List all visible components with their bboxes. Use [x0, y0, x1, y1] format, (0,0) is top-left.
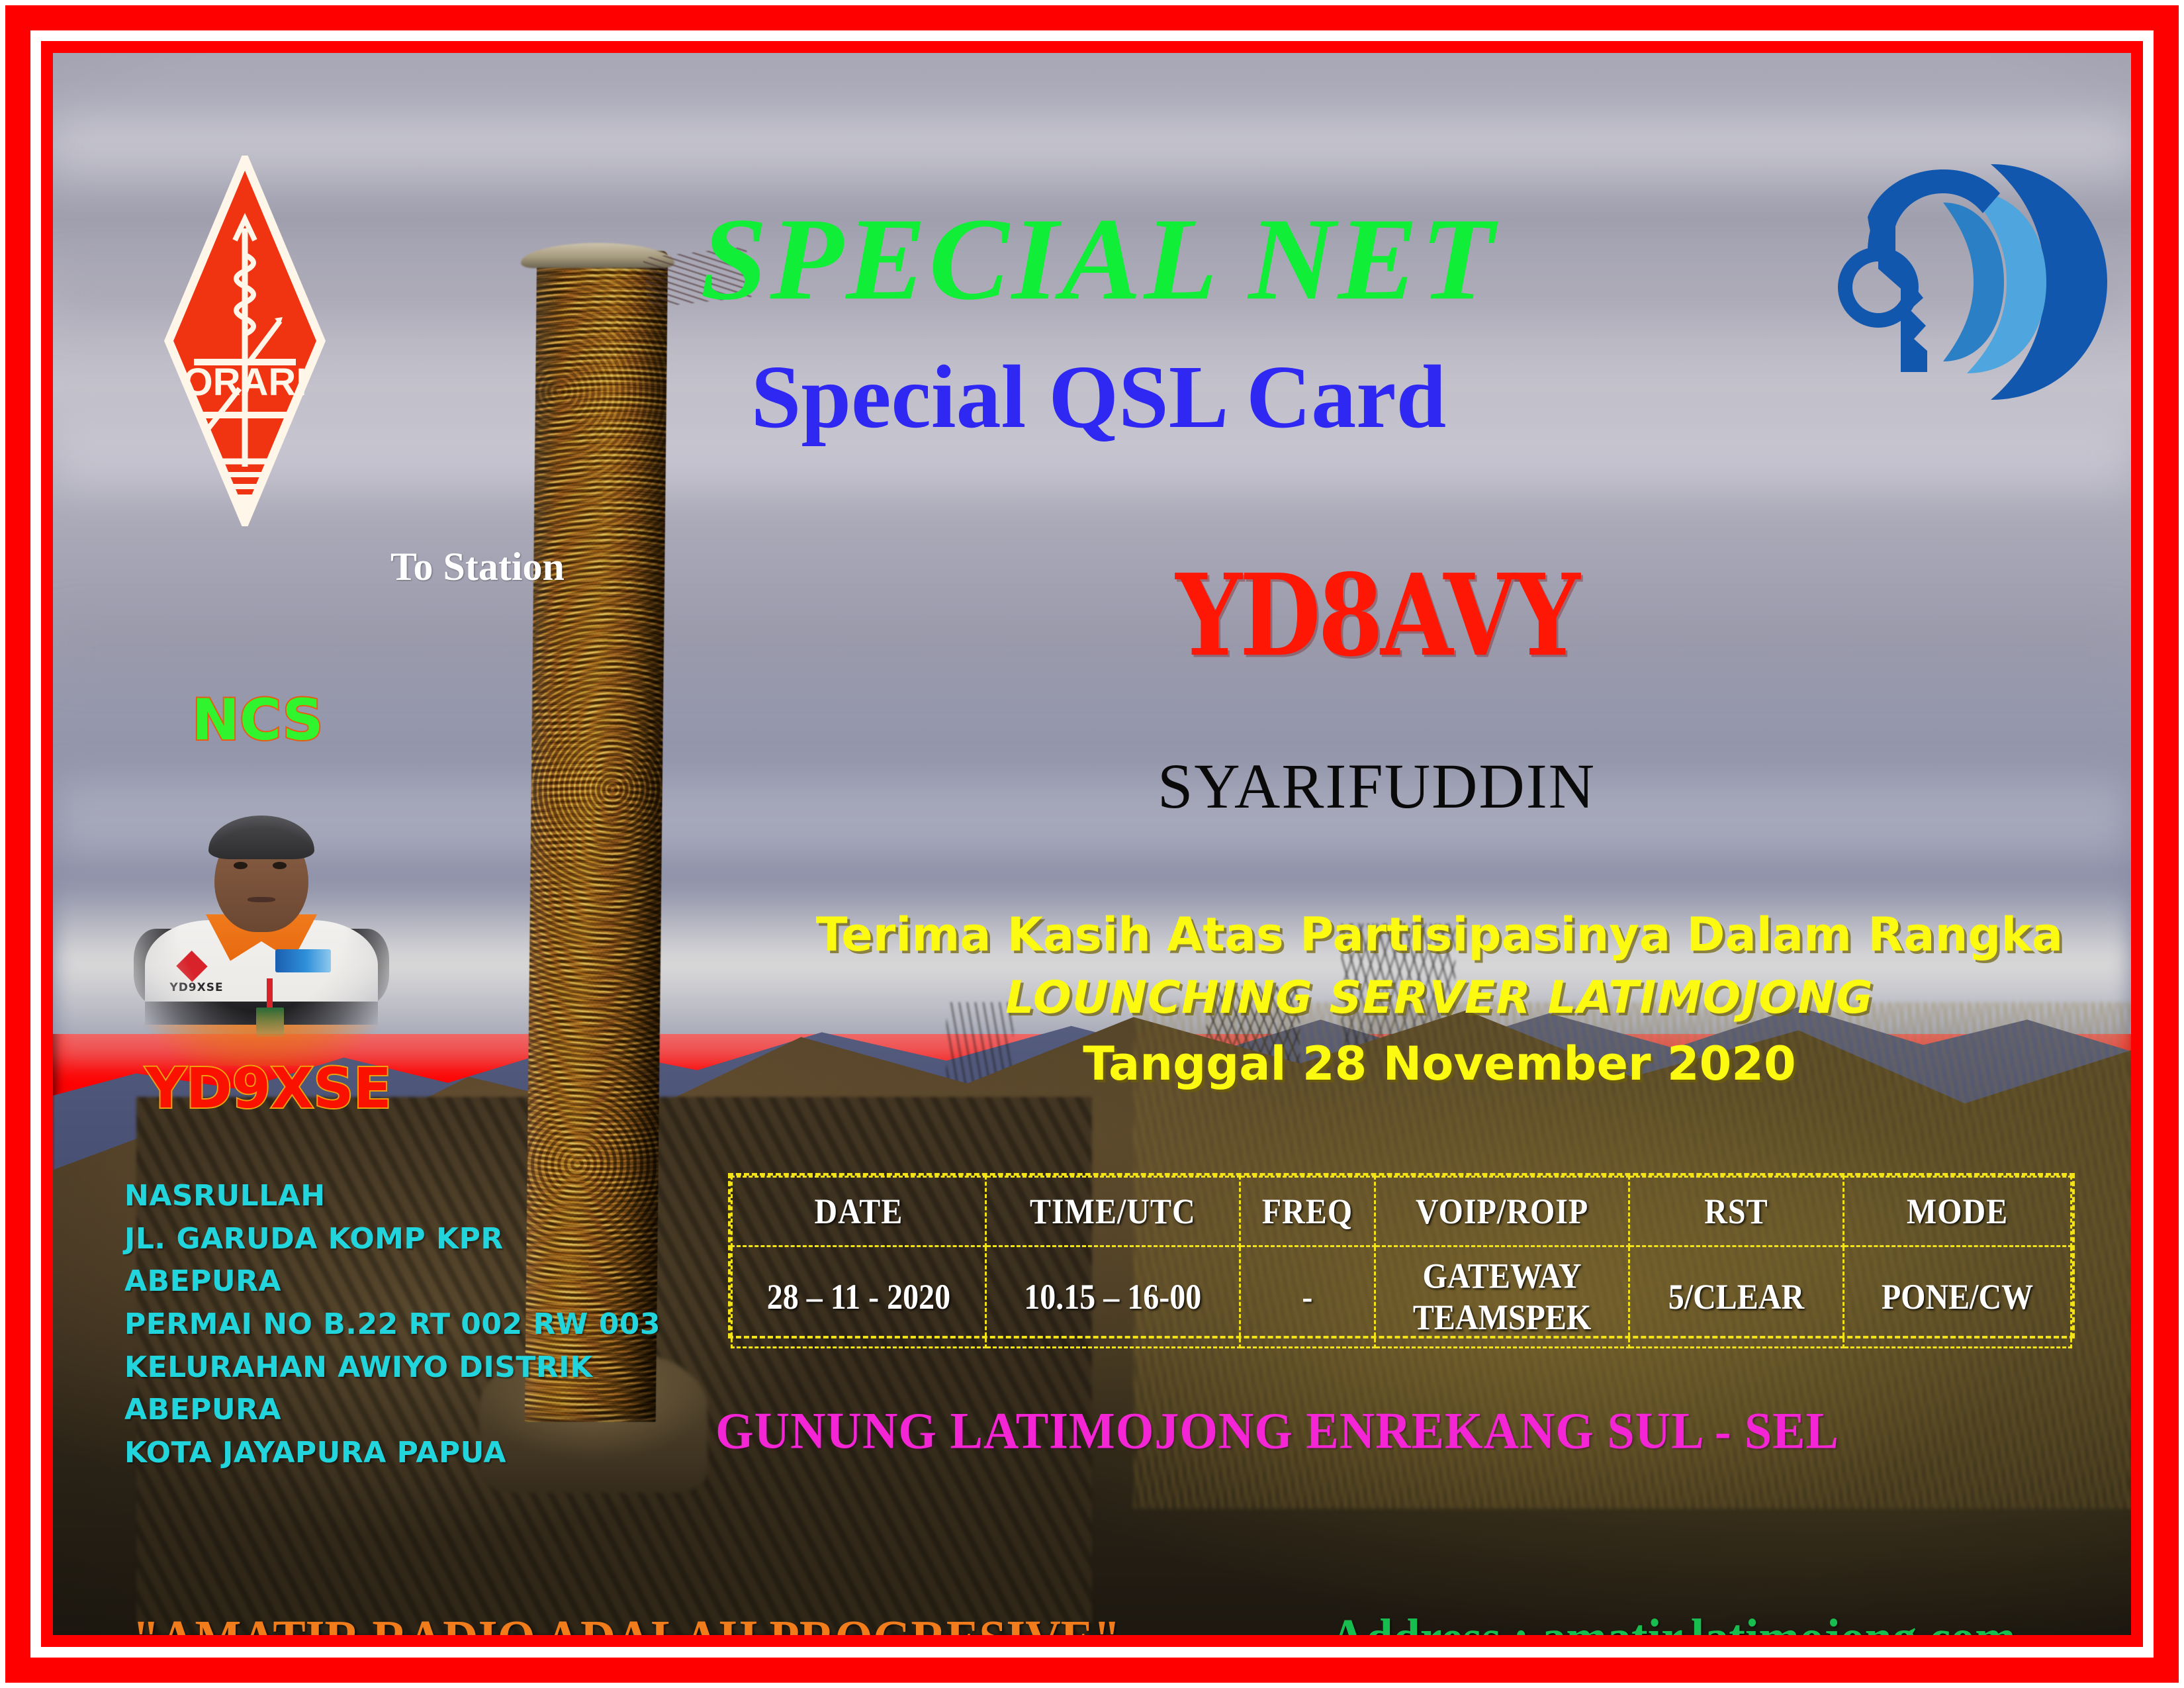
thanks-line: Terima Kasih Atas Partisipasinya Dalam R…: [801, 910, 2078, 959]
portrait-id-card: [256, 1008, 284, 1037]
ncs-label: NCS: [192, 692, 324, 749]
column-header-time: TIME/UTC: [985, 1172, 1240, 1250]
portrait-mouth: [248, 897, 275, 902]
ncs-callsign-text: YD9XSE: [146, 1056, 392, 1121]
address-line: ABEPURA: [124, 1260, 660, 1303]
operator-name: SYARIFUDDIN: [933, 755, 1820, 818]
cell-voip-line2: TEAMSPEK: [1377, 1297, 1627, 1338]
address-line: ABEPURA: [124, 1389, 660, 1432]
location-line: GUNUNG LATIMOJONG ENREKANG SUL - SEL: [649, 1405, 1906, 1457]
event-line: LOUNCHING SERVER LATIMOJONG: [801, 974, 2078, 1022]
table-header-row: DATE TIME/UTC FREQ VOIP/ROIP RST MODE: [732, 1177, 2071, 1246]
column-header-mode: MODE: [1843, 1172, 2071, 1250]
column-header-voip: VOIP/ROIP: [1375, 1172, 1629, 1250]
to-station-label: To Station: [390, 544, 565, 590]
portrait-blend: YD9XSE: [122, 774, 400, 1066]
column-header-freq: FREQ: [1240, 1172, 1375, 1250]
address-line: KOTA JAYAPURA PAPUA: [124, 1432, 660, 1475]
motto-text: "AMATIR RADIO ADALAH PROGRESIVE": [132, 1613, 1120, 1635]
ncs-operator-photo: YD9XSE: [122, 774, 400, 1066]
website-address: Address : amatir.latimojong.com: [1330, 1611, 2016, 1635]
address-line: PERMAI NO B.22 RT 002 RW 003: [124, 1303, 660, 1346]
cell-rst: 5/CLEAR: [1629, 1240, 1843, 1353]
qsl-card: ORARI SPECIAL NET Special QSL Card: [0, 0, 2184, 1688]
table-row: 28 – 11 - 2020 10.15 – 16-00 - GATEWAY T…: [732, 1246, 2071, 1348]
qso-log-table: DATE TIME/UTC FREQ VOIP/ROIP RST MODE 28…: [728, 1173, 2075, 1338]
cell-voip-line1: GATEWAY: [1377, 1256, 1627, 1297]
cell-date: 28 – 11 - 2020: [732, 1240, 986, 1353]
column-header-rst: RST: [1629, 1172, 1843, 1250]
portrait-hair: [208, 816, 314, 859]
event-date-line: Tanggal 28 November 2020: [801, 1039, 2078, 1088]
background-photo: ORARI SPECIAL NET Special QSL Card: [53, 53, 2131, 1635]
cell-time: 10.15 – 16-00: [985, 1240, 1240, 1353]
callsign: YD8AVY: [987, 559, 1766, 672]
address-line: JL. GARUDA KOMP KPR: [124, 1218, 660, 1261]
headphone-soundwave-logo: [1827, 152, 2111, 410]
portrait-eye-left: [234, 862, 248, 869]
cell-voip: GATEWAY TEAMSPEK: [1375, 1240, 1629, 1353]
sender-address-block: NASRULLAH JL. GARUDA KOMP KPR ABEPURA PE…: [124, 1175, 660, 1475]
ncs-callsign: YD9XSE: [146, 1060, 392, 1116]
page-title: SPECIAL NET: [498, 200, 1700, 318]
portrait-eye-right: [273, 862, 287, 869]
portrait-chest-patch: [275, 949, 331, 972]
orari-logo: ORARI: [162, 156, 328, 526]
cell-mode: PONE/CW: [1843, 1240, 2071, 1353]
address-line: KELURAHAN AWIYO DISTRIK: [124, 1346, 660, 1389]
orari-logo-text: ORARI: [183, 361, 307, 404]
column-header-date: DATE: [732, 1172, 986, 1250]
address-line: NASRULLAH: [124, 1175, 660, 1218]
cell-freq: -: [1240, 1240, 1375, 1353]
portrait-callsign-embroidery: YD9XSE: [169, 981, 223, 994]
page-subtitle: Special QSL Card: [510, 352, 1688, 442]
